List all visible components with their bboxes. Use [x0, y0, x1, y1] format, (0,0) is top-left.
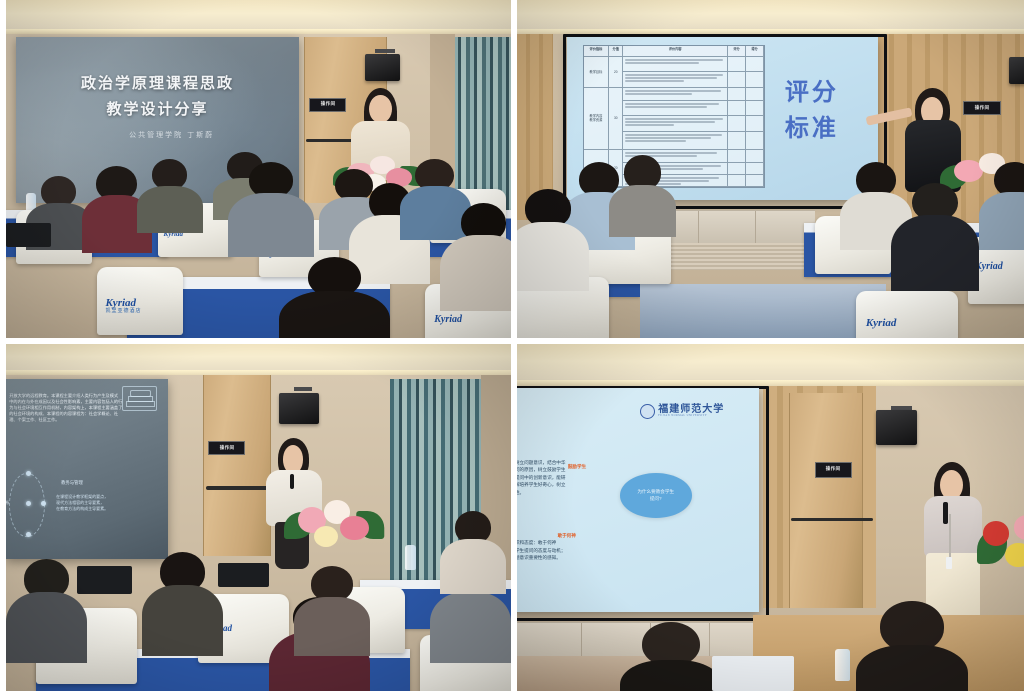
table-cell-content [623, 72, 728, 88]
table-cell-score: 20 [609, 57, 623, 88]
university-logo: 福建师范大学 FUJIAN NORMAL UNIVERSITY [640, 404, 724, 419]
table-cell-result [746, 57, 764, 73]
slide-paragraph-top: 倡导树立问题意识，结合中华 少提问的原因，树立鼓励学生 学生提问中的创新意识，能… [517, 451, 614, 496]
carpet [640, 284, 886, 338]
table-cell-mark [728, 132, 746, 150]
table-header-cell: 评分 [728, 46, 746, 57]
table-cell-result [746, 150, 764, 163]
oval-line1: 为什么要教会学生 [637, 489, 674, 496]
table-cell-content [623, 88, 728, 101]
wall-sign-label: 操作间 [320, 103, 335, 108]
table-cell-content [623, 57, 728, 73]
ceiling-speaker-icon [1009, 57, 1024, 84]
slide-circular-diagram: 关系 [9, 473, 45, 538]
water-bottle-icon [405, 545, 416, 569]
laptop-icon [6, 223, 51, 247]
chair-cover: Kyriad 凯里亚德酒店 [97, 267, 183, 335]
table-cell-mark [728, 163, 746, 176]
table-cell-mark [728, 175, 746, 186]
slide-paragraph-top-highlight: 鼓励学生 [568, 463, 586, 471]
photo-panel-bottom-right[interactable]: 操作间 福建师范大学 FUJIAN NORMAL UNIVERSITY 倡导树立… [517, 344, 1024, 691]
chair-brand-label: Kyriad 凯里亚德酒店 [105, 298, 141, 314]
microphone-icon [943, 502, 948, 524]
lanyard [949, 514, 951, 558]
laptop-icon [712, 656, 794, 691]
flower-bouquet-icon [284, 497, 385, 556]
slide-headline-line2: 标准 [785, 115, 839, 143]
conference-room-scene: 评价指标 分值 评价内容 评分 得分 教学目标 20 [517, 0, 1024, 338]
table-cell-result [746, 163, 764, 176]
slide-headline-line1: 评分 [785, 79, 839, 107]
table-row: 教学目标 [584, 57, 609, 88]
university-name: 福建师范大学 FUJIAN NORMAL UNIVERSITY [658, 405, 724, 418]
table-cell-result [746, 132, 764, 150]
table-row: 教学内容 教学资源 [584, 88, 609, 150]
photo-panel-top-left[interactable]: 政治学原理课程思政 教学设计分享 公共管理学院 丁斯蔚 操作间 [6, 0, 511, 338]
table-header-cell: 得分 [746, 46, 764, 57]
laptop-icon [218, 563, 269, 587]
conference-room-scene: 操作间 福建师范大学 FUJIAN NORMAL UNIVERSITY 倡导树立… [517, 344, 1024, 691]
table-header-cell: 评价指标 [584, 46, 609, 57]
table-cell-result [746, 175, 764, 186]
ceiling-speaker-icon [876, 410, 917, 445]
wall-sign-control-room: 操作间 [963, 101, 1001, 114]
slide-key-question-oval: 为什么要教会学生 提问? [620, 473, 692, 518]
photo-collage: 政治学原理课程思政 教学设计分享 公共管理学院 丁斯蔚 操作间 [0, 0, 1024, 691]
attendee [142, 552, 223, 656]
name-badge [946, 557, 952, 569]
wall-sign-control-room: 操作间 [208, 441, 245, 455]
chair-brand-label: Kyriad [434, 315, 462, 325]
wall-sign-label: 操作间 [219, 446, 234, 451]
diagram-label: 关系 [6, 500, 9, 506]
oval-line2: 提问? [650, 496, 662, 503]
wall-sign-label: 操作间 [975, 106, 990, 111]
conference-room-scene: 开放大学的远程教育。本课程主要介绍人类行为产生及模式 中的内在与外在成因以及社会… [6, 344, 511, 691]
wall-sign-control-room: 操作间 [815, 462, 853, 478]
slide-paragraph-bottom-highlight: 敢于何神 [557, 532, 575, 540]
slide-section-label: 教务与管理 [61, 480, 83, 486]
slide-title-line2: 教学设计分享 [39, 100, 277, 120]
ceiling-speaker-icon [365, 54, 400, 81]
table-cell-mark [728, 72, 746, 88]
attendee [620, 622, 723, 691]
photo-panel-top-right[interactable]: 评价指标 分值 评价内容 评分 得分 教学目标 20 [517, 0, 1024, 338]
chair-brand-label: Kyriad [975, 262, 1003, 272]
speaker-mount-arm [294, 387, 312, 391]
attendee [6, 559, 87, 663]
door-handle[interactable] [791, 518, 873, 522]
table-cell-content [623, 101, 728, 117]
attendee [137, 159, 203, 233]
table-cell-mark [728, 101, 746, 117]
ceiling [517, 0, 1024, 30]
chair-cover: Kyriad [856, 291, 959, 338]
wall-sign-label: 操作间 [826, 468, 841, 473]
table-cell-mark [728, 88, 746, 101]
presenter-head [369, 95, 392, 123]
attendee [294, 566, 370, 656]
table-cell-result [746, 72, 764, 88]
attendee [228, 162, 314, 257]
attendee [856, 601, 969, 691]
water-bottle-icon [835, 649, 850, 680]
table-cell-result [746, 116, 764, 132]
university-seal-icon [640, 404, 655, 419]
attendee [609, 155, 676, 236]
table-cell-indicator: 教学内容 教学资源 [590, 114, 603, 122]
ceiling [517, 344, 1024, 382]
conference-room-scene: 政治学原理课程思政 教学设计分享 公共管理学院 丁斯蔚 操作间 [6, 0, 511, 338]
attendee [891, 183, 978, 291]
chair-brand-label: Kyriad [866, 318, 897, 329]
speaker-mount-arm [375, 49, 395, 53]
ceiling-speaker-icon [279, 393, 319, 424]
table-cell-content [623, 116, 728, 132]
books-icon [122, 386, 156, 411]
presenter-blouse [924, 496, 981, 556]
ceiling [6, 344, 511, 372]
slide-title-line1: 政治学原理课程思政 [39, 74, 277, 94]
attendee [440, 203, 511, 311]
attendee [517, 189, 589, 290]
flower-bouquet-icon [979, 511, 1024, 587]
attendee [440, 511, 506, 594]
attendee [279, 257, 390, 338]
projection-screen: 福建师范大学 FUJIAN NORMAL UNIVERSITY 倡导树立问题意识… [517, 388, 759, 612]
table-cell-mark [728, 57, 746, 73]
ceiling [6, 0, 511, 30]
table-cell-result [746, 88, 764, 101]
university-name-en: FUJIAN NORMAL UNIVERSITY [658, 415, 724, 418]
microphone-icon [290, 474, 294, 489]
table-cell-mark [728, 116, 746, 132]
photo-panel-bottom-left[interactable]: 开放大学的远程教育。本课程主要介绍人类行为产生及模式 中的内在与外在成因以及社会… [6, 344, 511, 691]
slide-section-lines: 在课程设计教学框架的要点， 现代方法相容的主导要素， 在教育方法的构成主导要素。 [56, 494, 159, 511]
table-cell-content [623, 132, 728, 150]
table-header-cell: 分值 [609, 46, 623, 57]
table-header-cell: 评价内容 [623, 46, 728, 57]
attendee [979, 162, 1024, 250]
room-door[interactable] [789, 393, 863, 608]
table-cell-mark [728, 150, 746, 163]
table-cell-indicator: 教学目标 [590, 70, 603, 74]
table-cell-score: 30 [609, 88, 623, 150]
projection-screen: 开放大学的远程教育。本课程主要介绍人类行为产生及模式 中的内在与外在成因以及社会… [6, 379, 168, 559]
table-cell-result [746, 101, 764, 117]
slide-subtitle: 公共管理学院 丁斯蔚 [67, 130, 276, 140]
